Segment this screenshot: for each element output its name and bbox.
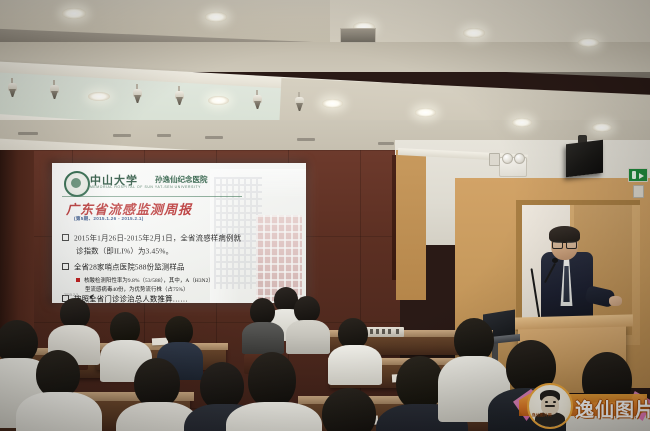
exit-sign <box>628 168 648 182</box>
microphone-capsule-icon <box>552 258 558 263</box>
audience-head <box>248 352 296 408</box>
projection-screen: 中山大学 MEMORIAL HOSPITAL OF SUN YAT-SEN UN… <box>52 163 306 303</box>
audience-body <box>328 345 382 385</box>
slide-header-divider <box>62 196 242 197</box>
audience-body <box>226 402 322 431</box>
hanging-spotlight <box>253 90 262 110</box>
watermark: 逸仙图片网 逸仙图片 <box>519 381 647 427</box>
recessed-downlight <box>415 108 436 117</box>
wall-wood-left-edge <box>396 150 426 300</box>
audience-head <box>36 350 80 398</box>
bullet-red-square-icon <box>76 278 80 282</box>
presenter-hand <box>609 296 622 306</box>
av-control-panel[interactable] <box>366 327 404 337</box>
photo-scene: 中山大学 MEMORIAL HOSPITAL OF SUN YAT-SEN UN… <box>0 0 650 431</box>
slide-subtitle: (第5期、2015.1.26 - 2015.2.1) <box>74 216 144 222</box>
sun-yat-sen-university-crest-icon <box>64 171 90 197</box>
recessed-downlight <box>208 96 229 105</box>
audience-body <box>16 392 102 431</box>
hanging-spotlight <box>133 84 142 104</box>
recessed-downlight <box>322 99 343 108</box>
slide-bullet-text: 诊指数（即ILI%）为3.45%。 <box>76 246 173 255</box>
slide-university-name-english: MEMORIAL HOSPITAL OF SUN YAT-SEN UNIVERS… <box>90 185 201 189</box>
ceiling-vent-slot <box>157 134 171 137</box>
audience-head <box>322 388 376 431</box>
wall-mounted-loudspeaker-icon <box>566 140 603 178</box>
ceiling-vent-slot <box>378 142 394 145</box>
hanging-spotlight <box>175 86 184 106</box>
recessed-downlight <box>512 118 532 127</box>
audience-head <box>134 358 180 408</box>
audience-head <box>396 356 444 410</box>
hanging-spotlight <box>50 80 59 100</box>
recessed-downlight <box>592 123 612 132</box>
audience-head <box>200 362 244 410</box>
recessed-downlight <box>88 92 110 101</box>
ceiling-vent-slot <box>205 136 223 139</box>
audience-body <box>286 320 330 354</box>
hanging-spotlight <box>295 92 304 112</box>
recessed-downlight <box>205 12 227 22</box>
watermark-brand-text: 逸仙图片 <box>575 395 650 422</box>
ceiling-vent-slot <box>113 134 131 137</box>
slide-bullet-text: 2015年1月26日-2015年2月1日，全省流感样病例就 <box>74 233 241 242</box>
recessed-downlight <box>578 38 599 47</box>
slide-hospital-name: 孙逸仙纪念医院 <box>155 174 208 185</box>
hanging-spotlight <box>8 78 17 98</box>
ceiling-vent-slot <box>18 132 38 135</box>
ceiling-vent-slot <box>297 138 315 141</box>
recessed-downlight <box>62 8 86 19</box>
presenter-glasses-icon <box>552 241 576 247</box>
audience-head <box>294 296 320 323</box>
slide-content: 中山大学 MEMORIAL HOSPITAL OF SUN YAT-SEN UN… <box>52 163 306 303</box>
ceiling-air-vent <box>340 28 376 43</box>
watermark-portrait-icon <box>527 383 573 429</box>
slide-bullet-text: 全省28家哨点医院588份监测样品 <box>74 262 185 271</box>
slide-footer-note: 2015.2.3 <box>64 293 78 297</box>
watermark-portrait-caption: 逸仙图片网 <box>532 413 552 418</box>
audience-body <box>242 322 284 354</box>
audience-head <box>250 298 275 325</box>
bullet-square-icon <box>62 234 69 241</box>
wall-socket[interactable] <box>489 153 500 166</box>
wall-socket[interactable] <box>633 185 644 198</box>
emergency-light <box>499 157 527 177</box>
bullet-square-icon <box>62 263 69 270</box>
recessed-downlight <box>463 28 485 38</box>
